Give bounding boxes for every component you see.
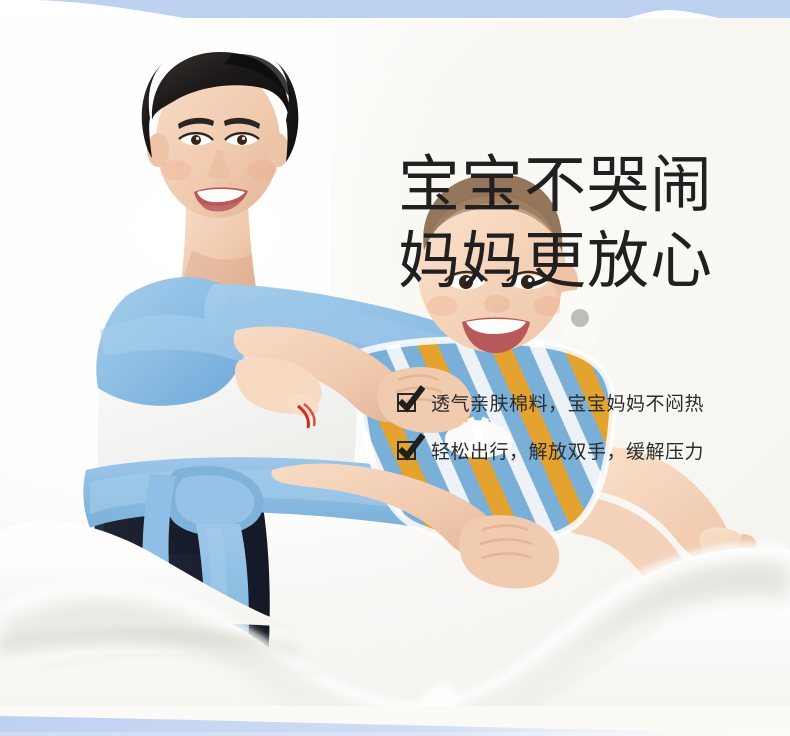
- feature-bullet-list: 透气亲肤棉料，宝宝妈妈不闷热 轻松出行，解放双手，缓解压力: [397, 378, 767, 474]
- page-title: 宝宝不哭闹 妈妈更放心: [398, 148, 758, 300]
- product-banner: 宝宝不哭闹 妈妈更放心 透气亲肤棉料，宝宝妈妈不闷热 轻松出行，解放双手，缓解压…: [0, 0, 790, 736]
- list-item: 轻松出行，解放双手，缓解压力: [397, 426, 767, 474]
- bullet-text: 透气亲肤棉料，宝宝妈妈不闷热: [431, 389, 704, 416]
- headline-line-2: 妈妈更放心: [398, 224, 758, 300]
- blue-bottom-strip: [0, 700, 790, 736]
- checkbox-check-icon: [397, 441, 416, 460]
- list-item: 透气亲肤棉料，宝宝妈妈不闷热: [397, 378, 767, 426]
- bullet-text: 轻松出行，解放双手，缓解压力: [431, 437, 704, 464]
- white-fabric-wave: [0, 470, 790, 736]
- headline-line-1: 宝宝不哭闹: [398, 148, 758, 224]
- checkbox-check-icon: [397, 393, 416, 412]
